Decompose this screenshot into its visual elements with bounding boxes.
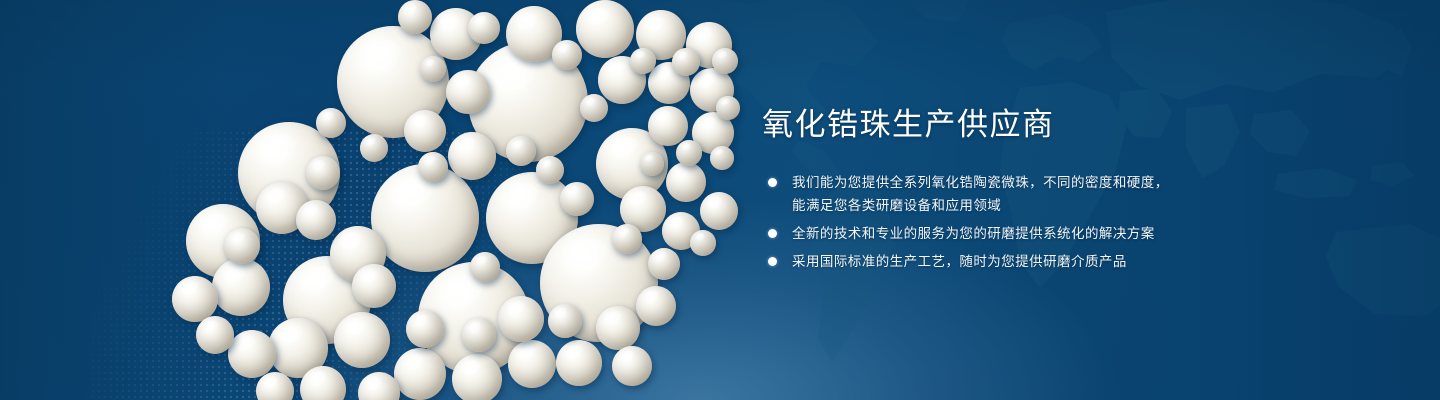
page-title: 氧化锆珠生产供应商	[762, 104, 1282, 146]
bullet-dot-icon	[768, 257, 777, 266]
bullet-line: 我们能为您提供全系列氧化锆陶瓷微珠，不同的密度和硬度，	[792, 171, 1282, 194]
bullet-line: 全新的技术和专业的服务为您的研磨提供系统化的解决方案	[792, 222, 1282, 245]
feature-bullet-list: 我们能为您提供全系列氧化锆陶瓷微珠，不同的密度和硬度， 能满足您各类研磨设备和应…	[762, 171, 1282, 273]
hero-banner: 氧化锆珠生产供应商 我们能为您提供全系列氧化锆陶瓷微珠，不同的密度和硬度， 能满…	[0, 0, 1440, 400]
bullet-dot-icon	[768, 229, 777, 238]
bullet-line: 采用国际标准的生产工艺，随时为您提供研磨介质产品	[792, 250, 1282, 273]
list-item: 全新的技术和专业的服务为您的研磨提供系统化的解决方案	[762, 222, 1282, 245]
bullet-dot-icon	[768, 178, 777, 187]
list-item: 我们能为您提供全系列氧化锆陶瓷微珠，不同的密度和硬度， 能满足您各类研磨设备和应…	[762, 171, 1282, 217]
list-item: 采用国际标准的生产工艺，随时为您提供研磨介质产品	[762, 250, 1282, 273]
bullet-line: 能满足您各类研磨设备和应用领域	[792, 194, 1282, 217]
banner-copy: 氧化锆珠生产供应商 我们能为您提供全系列氧化锆陶瓷微珠，不同的密度和硬度， 能满…	[762, 104, 1282, 273]
